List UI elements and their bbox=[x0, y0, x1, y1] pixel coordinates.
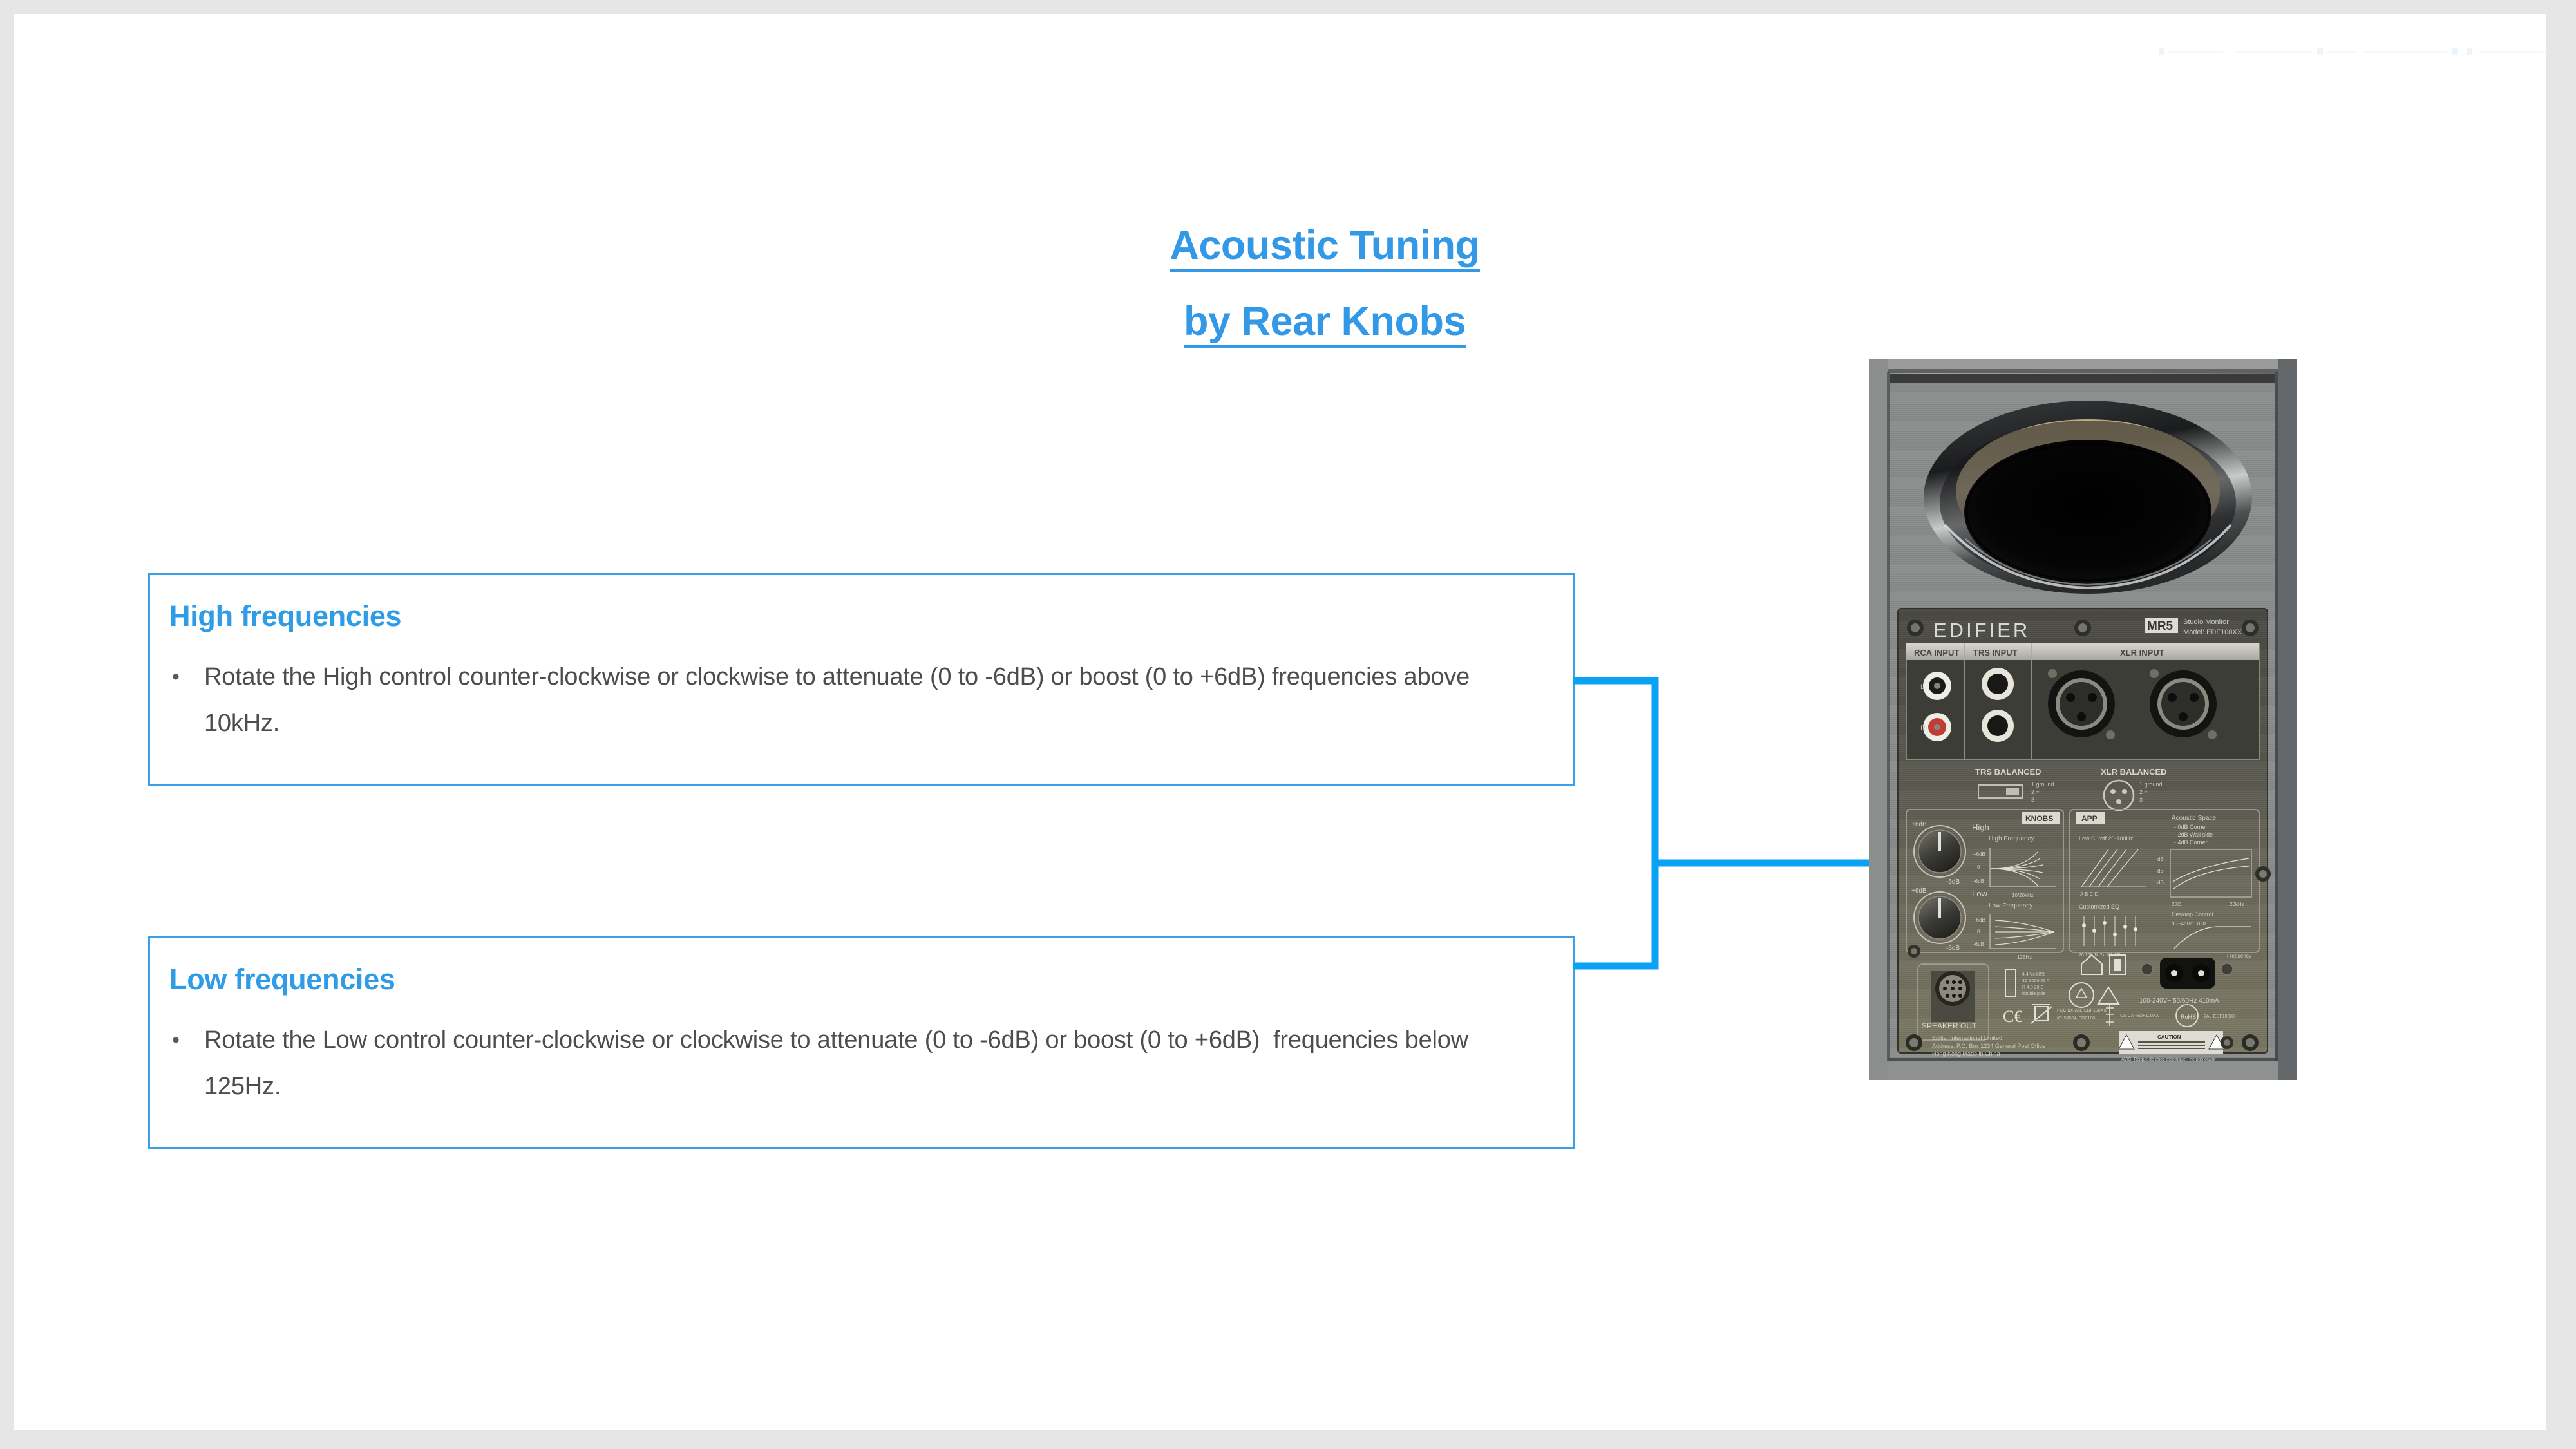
svg-text:Edifier International Limited: Edifier International Limited bbox=[1932, 1035, 2002, 1041]
svg-text:R 4.0 20 C: R 4.0 20 C bbox=[2022, 985, 2043, 990]
svg-text:+6dB: +6dB bbox=[1973, 851, 1985, 857]
svg-text:0: 0 bbox=[1977, 929, 1980, 934]
svg-text:1 ground: 1 ground bbox=[2139, 781, 2163, 788]
svg-text:125Hz: 125Hz bbox=[2017, 954, 2032, 960]
power-rating: 100-240V~ 50/60Hz 410mA bbox=[2139, 998, 2219, 1005]
app-panel-label: APP bbox=[2081, 814, 2098, 823]
svg-text:20C: 20C bbox=[2172, 902, 2181, 907]
svg-text:L: L bbox=[1920, 683, 1924, 691]
brand-text: EDIFIER bbox=[1933, 619, 2030, 641]
title-line-2: by Rear Knobs bbox=[903, 283, 1747, 359]
svg-text:1 ground: 1 ground bbox=[2031, 781, 2054, 788]
title-line-1: Acoustic Tuning bbox=[903, 207, 1747, 283]
svg-text:2AL-EDF100XX: 2AL-EDF100XX bbox=[2204, 1014, 2236, 1019]
svg-text:FCC ID: 2AL-EDF100XX: FCC ID: 2AL-EDF100XX bbox=[2057, 1009, 2107, 1013]
svg-text:US CA -EDF100XX: US CA -EDF100XX bbox=[2120, 1014, 2159, 1018]
svg-text:R: R bbox=[1920, 724, 1926, 732]
customized-eq-title: Customized EQ bbox=[2079, 904, 2119, 910]
svg-text:A B C D: A B C D bbox=[2080, 891, 2099, 897]
svg-text:High Frequency: High Frequency bbox=[1989, 835, 2034, 842]
svg-text:- 2dB Wall side: - 2dB Wall side bbox=[2174, 831, 2213, 838]
svg-text:4.4 Vc 80%: 4.4 Vc 80% bbox=[2022, 972, 2045, 977]
svg-text:- 0dB Corner: - 0dB Corner bbox=[2174, 824, 2208, 830]
svg-text:Low Frequency: Low Frequency bbox=[1989, 902, 2032, 909]
svg-text:AVIS: Risque de choc electriqu: AVIS: Risque de choc electrique - ne pas… bbox=[2121, 1057, 2216, 1062]
model-badge: MR5 bbox=[2147, 620, 2173, 633]
low-knob-label: Low bbox=[1972, 889, 1987, 898]
bullet-marker-icon: • bbox=[167, 1017, 204, 1063]
bullet-marker-icon: • bbox=[167, 654, 204, 700]
svg-text:3 -: 3 - bbox=[2139, 797, 2146, 803]
high-knob-label: High bbox=[1972, 822, 1989, 832]
caution-label: CAUTION AVIS: Risque de choc electrique … bbox=[2119, 1031, 2224, 1062]
acoustic-space-title: Acoustic Space bbox=[2172, 815, 2216, 822]
callout-body-low: Rotate the Low control counter-clockwise… bbox=[204, 1017, 1551, 1110]
ce-mark: C€ bbox=[2003, 1007, 2022, 1026]
svg-text:Hong Kong Made in China: Hong Kong Made in China bbox=[1932, 1050, 2000, 1057]
callout-bullet-low: • Rotate the Low control counter-clockwi… bbox=[167, 1017, 1551, 1110]
xlr-input-label: XLR INPUT bbox=[2120, 648, 2164, 658]
svg-text:+6dB: +6dB bbox=[1911, 821, 1927, 828]
svg-text:10/20kHz: 10/20kHz bbox=[2012, 893, 2034, 898]
svg-text:-6dB: -6dB bbox=[1946, 878, 1960, 885]
callout-body-high: Rotate the High control counter-clockwis… bbox=[204, 654, 1551, 746]
svg-text:20kHz: 20kHz bbox=[2230, 902, 2244, 907]
svg-text:2 +: 2 + bbox=[2031, 789, 2040, 795]
knobs-panel-label: KNOBS bbox=[2025, 814, 2053, 823]
svg-text:- 4dB Corner: - 4dB Corner bbox=[2174, 839, 2208, 846]
callout-bullet-high: • Rotate the High control counter-clockw… bbox=[167, 654, 1551, 746]
svg-text:-6dB: -6dB bbox=[1946, 945, 1960, 952]
svg-text:3C 8000 26 A: 3C 8000 26 A bbox=[2022, 979, 2050, 983]
svg-text:dB -4dB/100Hz: dB -4dB/100Hz bbox=[2172, 921, 2206, 927]
speaker-rear-panel-image: EDIFIER MR5 Studio Monitor Model: EDF100… bbox=[1869, 359, 2297, 1080]
svg-text:2 +: 2 + bbox=[2139, 789, 2148, 795]
svg-text:dB: dB bbox=[2157, 868, 2164, 874]
rca-input-label: RCA INPUT bbox=[1914, 648, 1959, 658]
callout-box-low-frequencies[interactable]: Low frequencies • Rotate the Low control… bbox=[148, 936, 1575, 1149]
slide-viewport: Acoustic Tuning by Rear Knobs High frequ… bbox=[0, 0, 2576, 1449]
svg-text:0: 0 bbox=[1977, 864, 1980, 870]
svg-text:+6dB: +6dB bbox=[1911, 887, 1927, 895]
page-title: Acoustic Tuning by Rear Knobs bbox=[903, 207, 1747, 359]
model-line-2: Model: EDF100XX bbox=[2183, 629, 2242, 636]
svg-text:-6dB: -6dB bbox=[1973, 878, 1984, 884]
svg-text:IC: 5760A-EDF100: IC: 5760A-EDF100 bbox=[2057, 1016, 2095, 1021]
desktop-control-title: Desktop Control bbox=[2172, 911, 2213, 918]
toolbar-ghost-artifact bbox=[2159, 45, 2546, 59]
speaker-out-label: SPEAKER OUT bbox=[1922, 1021, 1977, 1030]
svg-text:RoHS: RoHS bbox=[2181, 1014, 2196, 1020]
svg-text:double pole: double pole bbox=[2022, 992, 2045, 996]
svg-text:dB: dB bbox=[2157, 880, 2164, 885]
svg-text:dB: dB bbox=[2157, 857, 2164, 862]
trs-balanced-label: TRS BALANCED bbox=[1975, 767, 2041, 777]
xlr-balanced-label: XLR BALANCED bbox=[2101, 767, 2167, 777]
svg-text:3 -: 3 - bbox=[2031, 797, 2038, 803]
callout-heading-low: Low frequencies bbox=[169, 963, 395, 996]
svg-text:Frequency: Frequency bbox=[2227, 953, 2251, 959]
svg-text:+6dB: +6dB bbox=[1973, 917, 1985, 923]
svg-text:Address: P.O. Box 1234 General: Address: P.O. Box 1234 General Post Offi… bbox=[1932, 1043, 2045, 1049]
low-cutoff-title: Low Cutoff 20-100Hz bbox=[2079, 835, 2134, 842]
input-connector-block: RCA INPUT TRS INPUT XLR INPUT L R bbox=[1906, 643, 2259, 759]
slide-canvas: Acoustic Tuning by Rear Knobs High frequ… bbox=[14, 14, 2546, 1430]
svg-text:CAUTION: CAUTION bbox=[2157, 1034, 2181, 1040]
callout-box-high-frequencies[interactable]: High frequencies • Rotate the High contr… bbox=[148, 573, 1575, 786]
trs-input-label: TRS INPUT bbox=[1973, 648, 2018, 658]
bass-reflex-port bbox=[1924, 401, 2252, 594]
callout-heading-high: High frequencies bbox=[169, 600, 401, 633]
svg-text:-6dB: -6dB bbox=[1973, 942, 1984, 947]
model-line-1: Studio Monitor bbox=[2183, 618, 2229, 626]
